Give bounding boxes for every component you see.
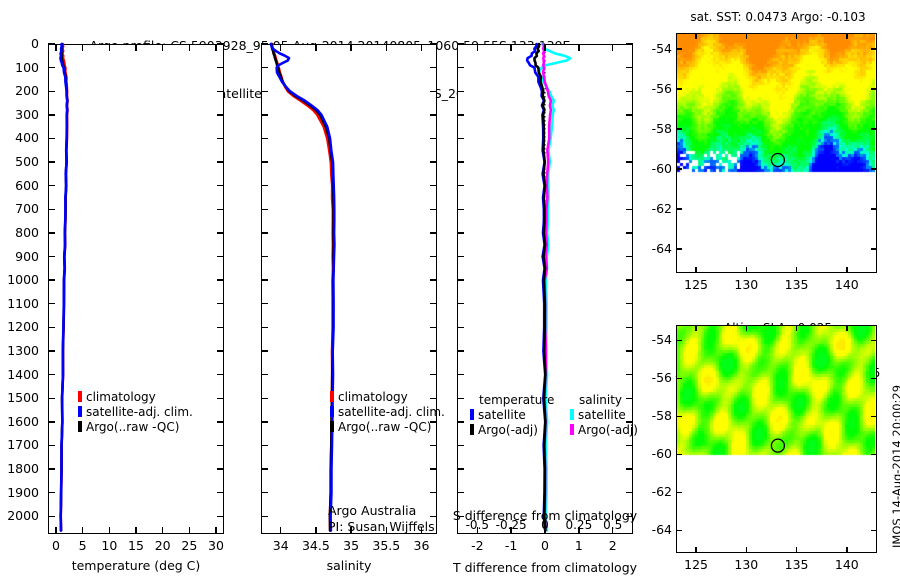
map-x-tick-top	[796, 33, 797, 39]
depth-tick-label: 900	[0, 249, 39, 264]
map-y-tick	[676, 208, 682, 209]
x-tick-top	[350, 44, 351, 51]
difference-legend-salinity: salinitysatelliteArgo(-adj)	[570, 393, 638, 438]
depth-tick	[217, 327, 224, 328]
depth-tick	[217, 468, 224, 469]
map-y-tick	[871, 48, 877, 49]
sst-map-title: sat. SST: 0.0473 Argo: -0.103	[660, 10, 896, 25]
depth-tick	[217, 516, 224, 517]
depth-tick-label: 1700	[0, 437, 39, 452]
depth-tick	[261, 209, 268, 210]
x-tick-top	[510, 44, 511, 51]
legend-header: temperature	[479, 393, 554, 408]
depth-tick	[217, 91, 224, 92]
map-x-tick	[846, 547, 847, 553]
depth-tick	[48, 232, 55, 233]
depth-tick	[261, 350, 268, 351]
depth-tick	[217, 67, 224, 68]
depth-tick	[261, 138, 268, 139]
depth-tick	[457, 468, 464, 469]
x-tick-top	[55, 44, 56, 51]
map-y-tick	[871, 208, 877, 209]
depth-tick-label: 1100	[0, 296, 39, 311]
temperature-xlabel: temperature (deg C)	[48, 558, 224, 573]
depth-tick	[430, 350, 437, 351]
x-tick-top	[162, 44, 163, 51]
depth-tick	[626, 350, 633, 351]
legend-label: Argo(-adj)	[578, 423, 638, 437]
depth-tick	[217, 445, 224, 446]
map-y-tick	[676, 530, 682, 531]
legend-swatch	[78, 406, 82, 417]
depth-tick-label: 0	[0, 36, 39, 51]
legend-swatch	[570, 409, 574, 420]
depth-tick-label: 1800	[0, 461, 39, 476]
map-y-tick-label: -58	[632, 121, 672, 136]
depth-tick	[261, 468, 268, 469]
depth-tick	[261, 303, 268, 304]
depth-tick	[626, 279, 633, 280]
map-y-tick-label: -60	[632, 446, 672, 461]
map-x-tick-top	[746, 325, 747, 331]
legend-label: satellite	[478, 408, 526, 422]
depth-tick	[457, 232, 464, 233]
map-y-tick	[676, 378, 682, 379]
depth-tick	[430, 209, 437, 210]
x-tick-top	[135, 44, 136, 51]
map-x-tick-top	[695, 325, 696, 331]
x-tick-label: 36	[392, 538, 452, 553]
depth-tick	[261, 421, 268, 422]
depth-tick-label: 800	[0, 225, 39, 240]
depth-tick-label: 200	[0, 83, 39, 98]
legend-label: Argo(-adj)	[478, 423, 538, 437]
x-tick-top	[386, 44, 387, 51]
x-tick-label: 2	[583, 538, 643, 553]
depth-tick	[48, 350, 55, 351]
map-x-tick	[695, 547, 696, 553]
depth-tick-label: 700	[0, 201, 39, 216]
legend-swatch	[78, 391, 82, 402]
depth-tick	[457, 398, 464, 399]
depth-tick	[217, 279, 224, 280]
depth-tick	[430, 492, 437, 493]
depth-tick-label: 1500	[0, 390, 39, 405]
map-y-tick	[676, 168, 682, 169]
depth-tick	[457, 138, 464, 139]
depth-tick	[626, 67, 633, 68]
depth-tick-label: 1200	[0, 319, 39, 334]
map-x-tick-top	[746, 33, 747, 39]
map-y-tick	[676, 340, 682, 341]
depth-tick	[48, 114, 55, 115]
legend-item: Argo(-adj)	[570, 423, 638, 438]
map-x-tick-top	[796, 325, 797, 331]
x-tick-top	[189, 44, 190, 51]
depth-tick	[626, 232, 633, 233]
depth-tick	[457, 421, 464, 422]
depth-tick	[48, 303, 55, 304]
depth-tick	[457, 185, 464, 186]
x-tick-top	[82, 44, 83, 51]
depth-tick	[261, 256, 268, 257]
depth-tick	[261, 232, 268, 233]
depth-tick-label: 1400	[0, 367, 39, 382]
sst-map-marker	[676, 33, 877, 273]
depth-tick	[48, 374, 55, 375]
legend-label: satellite	[578, 408, 626, 422]
depth-tick	[48, 91, 55, 92]
map-x-tick	[796, 547, 797, 553]
depth-tick	[48, 43, 55, 44]
imos-timestamp: IMOS 14-Aug-2014 20:00:29	[890, 385, 900, 548]
depth-tick	[217, 374, 224, 375]
depth-tick	[626, 185, 633, 186]
depth-tick	[217, 492, 224, 493]
map-y-tick-label: -60	[632, 161, 672, 176]
depth-tick	[430, 232, 437, 233]
map-y-tick	[871, 530, 877, 531]
x-tick	[315, 527, 316, 534]
legend-item: climatology	[78, 390, 193, 405]
depth-tick	[261, 445, 268, 446]
x-tick-top	[215, 44, 216, 51]
map-y-tick-label: -64	[632, 241, 672, 256]
depth-tick	[457, 161, 464, 162]
map-y-tick-label: -62	[632, 201, 672, 216]
depth-tick	[430, 468, 437, 469]
depth-tick	[217, 232, 224, 233]
x-tick-top	[315, 44, 316, 51]
x-tick	[82, 527, 83, 534]
depth-tick	[261, 398, 268, 399]
map-y-tick	[871, 454, 877, 455]
legend-header: salinity	[579, 393, 638, 408]
depth-tick	[457, 256, 464, 257]
depth-tick	[457, 43, 464, 44]
depth-tick	[430, 374, 437, 375]
depth-tick	[626, 303, 633, 304]
map-y-tick	[676, 128, 682, 129]
map-x-tick-label: 140	[817, 277, 877, 292]
legend-swatch	[78, 421, 82, 432]
depth-tick	[217, 209, 224, 210]
legend-item: Argo(..raw -QC)	[330, 420, 445, 435]
map-y-tick-label: -58	[632, 408, 672, 423]
map-x-tick	[746, 267, 747, 273]
x-tick-top	[544, 44, 545, 51]
salinity-profile-curves	[261, 44, 437, 534]
x-tick	[55, 527, 56, 534]
map-x-tick-top	[846, 33, 847, 39]
map-y-tick	[871, 340, 877, 341]
depth-tick	[457, 327, 464, 328]
map-y-tick-label: -62	[632, 484, 672, 499]
legend-swatch	[330, 391, 334, 402]
temperature-legend: climatologysatellite-adj. clim.Argo(..ra…	[78, 390, 193, 435]
difference-profile-curves	[457, 44, 633, 534]
legend-item: Argo(..raw -QC)	[78, 420, 193, 435]
map-x-tick	[695, 267, 696, 273]
sla-map-marker	[676, 325, 877, 553]
depth-tick	[261, 327, 268, 328]
depth-tick	[217, 398, 224, 399]
depth-tick	[48, 279, 55, 280]
depth-tick	[48, 468, 55, 469]
x-tick-top	[109, 44, 110, 51]
legend-label: Argo(..raw -QC)	[86, 420, 179, 434]
x-tick-top	[280, 44, 281, 51]
legend-swatch	[470, 424, 474, 435]
x-tick-top	[612, 44, 613, 51]
x-tick	[109, 527, 110, 534]
depth-tick	[217, 161, 224, 162]
legend-item: climatology	[330, 390, 445, 405]
x-tick-label: 30	[186, 538, 246, 553]
depth-tick	[217, 114, 224, 115]
legend-label: climatology	[86, 390, 156, 404]
depth-tick	[457, 67, 464, 68]
depth-tick	[48, 67, 55, 68]
map-y-tick	[871, 492, 877, 493]
salinity-xlabel: salinity	[261, 558, 437, 573]
map-y-tick	[676, 88, 682, 89]
legend-swatch	[330, 421, 334, 432]
depth-tick	[261, 516, 268, 517]
depth-tick	[261, 185, 268, 186]
depth-tick	[626, 327, 633, 328]
depth-tick	[261, 67, 268, 68]
depth-tick	[217, 350, 224, 351]
map-x-tick	[796, 267, 797, 273]
depth-tick	[430, 114, 437, 115]
x-tick-top	[421, 44, 422, 51]
depth-tick	[626, 114, 633, 115]
depth-tick	[261, 279, 268, 280]
depth-tick	[626, 138, 633, 139]
depth-tick-label: 400	[0, 130, 39, 145]
depth-tick	[48, 256, 55, 257]
map-y-tick	[676, 48, 682, 49]
depth-tick	[457, 91, 464, 92]
legend-label: climatology	[338, 390, 408, 404]
depth-tick	[430, 67, 437, 68]
map-y-tick	[871, 248, 877, 249]
depth-tick	[217, 185, 224, 186]
depth-tick	[430, 256, 437, 257]
depth-tick	[430, 445, 437, 446]
map-x-tick	[846, 267, 847, 273]
legend-item: satellite	[570, 408, 638, 423]
map-y-tick	[871, 128, 877, 129]
map-y-tick	[676, 248, 682, 249]
x-tick	[280, 527, 281, 534]
depth-tick	[217, 138, 224, 139]
depth-tick-label: 1300	[0, 343, 39, 358]
depth-tick	[457, 445, 464, 446]
depth-tick	[217, 256, 224, 257]
depth-tick	[430, 185, 437, 186]
depth-tick-label: 1600	[0, 414, 39, 429]
depth-tick-label: 100	[0, 60, 39, 75]
map-y-tick	[871, 168, 877, 169]
map-y-tick	[871, 378, 877, 379]
map-y-tick-label: -54	[632, 332, 672, 347]
depth-tick	[48, 398, 55, 399]
depth-tick	[261, 374, 268, 375]
x-tick	[189, 527, 190, 534]
map-x-tick-top	[695, 33, 696, 39]
depth-tick	[48, 492, 55, 493]
legend-item: satellite-adj. clim.	[78, 405, 193, 420]
depth-tick	[430, 91, 437, 92]
depth-tick	[48, 327, 55, 328]
depth-tick	[457, 303, 464, 304]
depth-tick	[626, 256, 633, 257]
legend-item: satellite-adj. clim.	[330, 405, 445, 420]
depth-tick	[457, 350, 464, 351]
depth-tick	[430, 138, 437, 139]
x-tick	[135, 527, 136, 534]
depth-tick	[261, 91, 268, 92]
difference-xlabel-bottom: T difference from climatology	[447, 560, 643, 575]
x-tick	[215, 527, 216, 534]
map-y-tick	[676, 492, 682, 493]
map-y-tick	[871, 88, 877, 89]
depth-tick	[457, 492, 464, 493]
legend-item: satellite	[470, 408, 554, 423]
depth-tick-label: 1900	[0, 485, 39, 500]
depth-tick	[48, 185, 55, 186]
depth-tick	[457, 114, 464, 115]
map-y-tick-label: -56	[632, 370, 672, 385]
salinity-legend: climatologysatellite-adj. clim.Argo(..ra…	[330, 390, 445, 435]
depth-tick	[261, 492, 268, 493]
x-tick-top	[477, 44, 478, 51]
legend-label: satellite-adj. clim.	[86, 405, 193, 419]
map-y-tick-label: -54	[632, 41, 672, 56]
depth-tick	[48, 445, 55, 446]
legend-label: satellite-adj. clim.	[338, 405, 445, 419]
map-y-tick	[676, 416, 682, 417]
depth-tick	[626, 468, 633, 469]
depth-tick	[48, 138, 55, 139]
depth-tick-label: 300	[0, 107, 39, 122]
depth-tick-label: 2000	[0, 508, 39, 523]
depth-tick	[48, 161, 55, 162]
difference-legend-temperature: temperaturesatelliteArgo(-adj)	[470, 393, 554, 438]
depth-tick	[217, 303, 224, 304]
depth-tick	[48, 516, 55, 517]
depth-tick	[457, 374, 464, 375]
depth-tick	[48, 209, 55, 210]
depth-tick	[261, 114, 268, 115]
depth-tick	[430, 327, 437, 328]
difference-xlabel-top: S difference from climatology	[447, 508, 643, 523]
temperature-profile-curves	[48, 44, 224, 534]
x-tick-top	[578, 44, 579, 51]
depth-tick	[217, 421, 224, 422]
legend-swatch	[570, 424, 574, 435]
legend-item: Argo(-adj)	[470, 423, 554, 438]
legend-label: Argo(..raw -QC)	[338, 420, 431, 434]
depth-tick-label: 500	[0, 154, 39, 169]
depth-tick	[430, 279, 437, 280]
depth-tick	[261, 161, 268, 162]
depth-tick	[457, 279, 464, 280]
map-y-tick-label: -64	[632, 522, 672, 537]
depth-tick	[430, 43, 437, 44]
legend-swatch	[330, 406, 334, 417]
map-y-tick	[676, 454, 682, 455]
depth-tick	[430, 303, 437, 304]
depth-tick	[430, 161, 437, 162]
map-x-tick-label: 140	[817, 557, 877, 572]
map-y-tick	[871, 416, 877, 417]
map-x-tick-top	[846, 325, 847, 331]
depth-tick	[217, 43, 224, 44]
depth-tick-label: 1000	[0, 272, 39, 287]
depth-tick	[261, 43, 268, 44]
salinity-annotation: Argo Australia PI: Susan Wijffels	[328, 503, 435, 535]
depth-tick-label: 600	[0, 178, 39, 193]
legend-swatch	[470, 409, 474, 420]
x-tick	[162, 527, 163, 534]
depth-tick	[457, 209, 464, 210]
map-x-tick	[746, 547, 747, 553]
depth-tick	[48, 421, 55, 422]
map-y-tick-label: -56	[632, 81, 672, 96]
